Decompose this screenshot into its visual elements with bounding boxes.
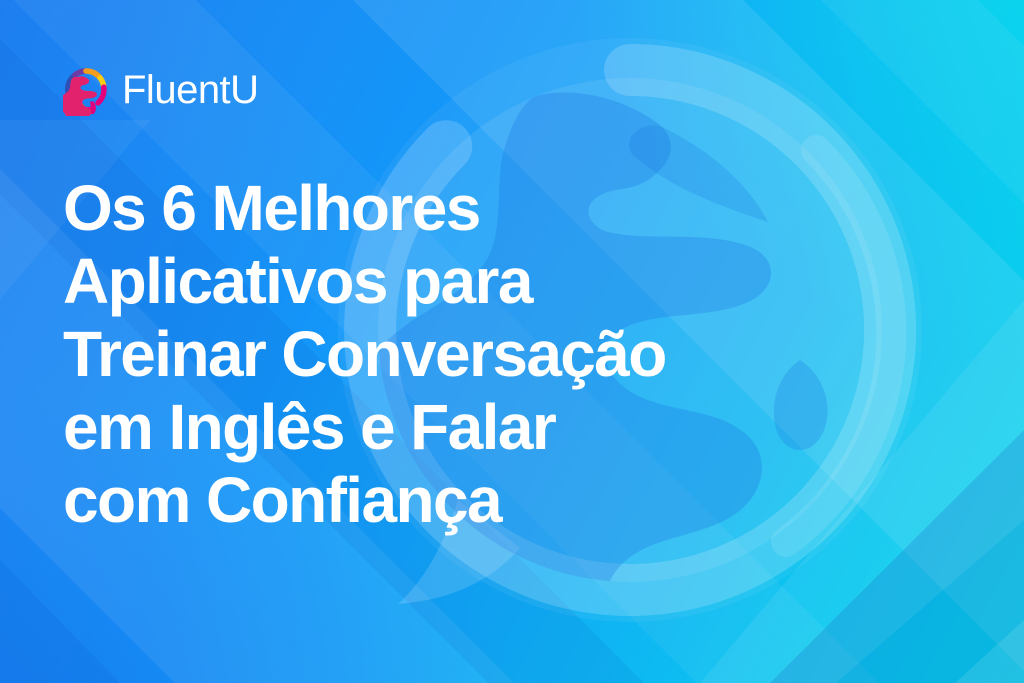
fluentu-blog-banner: FluentU Os 6 Melhores Aplicativos para T… <box>0 0 1024 683</box>
headline-line-2: Aplicativos para <box>63 245 963 318</box>
headline-line-4: em Inglês e Falar <box>63 391 963 464</box>
fluentu-globe-icon <box>63 66 109 116</box>
brand-name: FluentU <box>122 70 259 113</box>
headline-line-1: Os 6 Melhores <box>63 172 963 245</box>
headline-line-3: Treinar Conversação <box>63 318 963 391</box>
page-title: Os 6 Melhores Aplicativos para Treinar C… <box>63 172 963 537</box>
brand-logo-lockup[interactable]: FluentU <box>63 66 259 116</box>
headline-line-5: com Confiança <box>63 464 963 537</box>
